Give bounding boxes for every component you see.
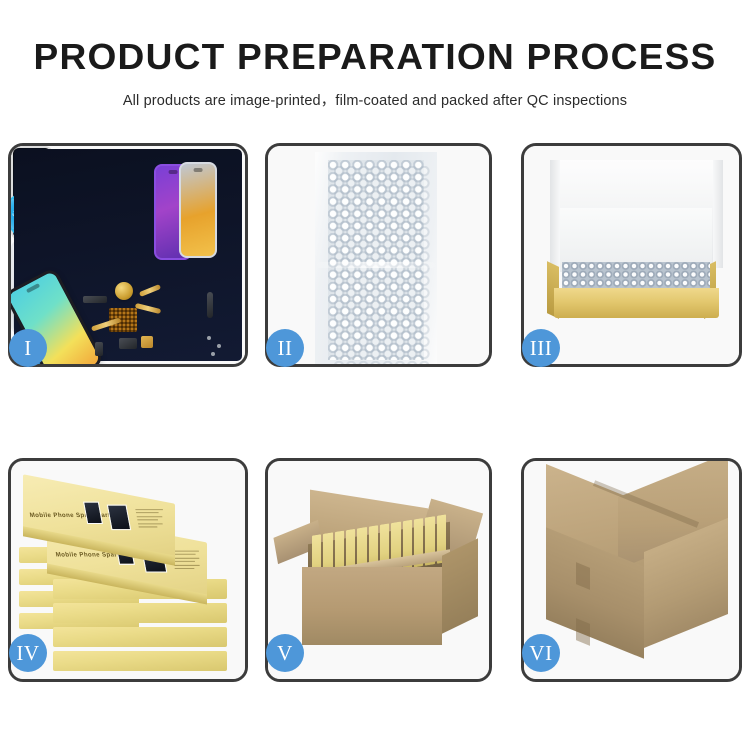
- amber-gradient-phone: [179, 162, 217, 258]
- stack-box-front-4: [53, 651, 227, 671]
- sim-tray: [95, 342, 103, 356]
- step-badge-1: I: [9, 329, 47, 367]
- step-image-3: [524, 146, 739, 364]
- screw-2: [217, 344, 221, 348]
- retail-box-thumbnail-1b: [107, 505, 131, 530]
- page-subtitle: All products are image-printed，film-coat…: [0, 89, 750, 110]
- bubble-wrapped-contents: [562, 262, 710, 290]
- retail-box-speclines-2: [171, 551, 204, 572]
- step-panel-2: [265, 143, 492, 367]
- page-title: PRODUCT PREPARATION PROCESS: [0, 36, 750, 78]
- header: PRODUCT PREPARATION PROCESS All products…: [0, 0, 750, 110]
- step-badge-6: VI: [522, 634, 560, 672]
- sealed-carton-tape-lower: [576, 618, 590, 646]
- step-badge-5: V: [266, 634, 304, 672]
- screw-1: [207, 336, 211, 340]
- mailer-box-front-panel: [554, 288, 719, 318]
- carton-side-face: [442, 538, 478, 634]
- small-gold-part: [141, 336, 153, 348]
- stack-box-front-2: [53, 603, 227, 623]
- steps-grid: Mobile Phone Spare Parts Mobile Phone Sp…: [0, 140, 750, 688]
- step-badge-4: IV: [9, 634, 47, 672]
- retail-box-speclines-1: [135, 509, 168, 530]
- camera-module: [119, 338, 137, 349]
- step-panel-1: [8, 143, 248, 367]
- bubble-wrap-sheet: [315, 152, 437, 364]
- retail-box-stack: Mobile Phone Spare Parts Mobile Phone Sp…: [17, 483, 245, 679]
- step-image-1: [11, 146, 245, 364]
- retail-box-thumbnail-1a: [83, 502, 103, 524]
- carton-front-face: [302, 567, 442, 645]
- step-image-2: [268, 146, 489, 364]
- tool-probe: [207, 292, 213, 318]
- dark-connector-part: [83, 296, 107, 303]
- phone-parts-scene: [11, 146, 245, 364]
- screw-3: [211, 352, 215, 356]
- speaker-module: [115, 282, 133, 300]
- step-badge-3: III: [522, 329, 560, 367]
- bubble-wrap-fold-seam: [317, 262, 435, 268]
- step-badge-2: II: [266, 329, 304, 367]
- product-preparation-infographic: PRODUCT PREPARATION PROCESS All products…: [0, 0, 750, 750]
- stack-box-front-3: [53, 627, 227, 647]
